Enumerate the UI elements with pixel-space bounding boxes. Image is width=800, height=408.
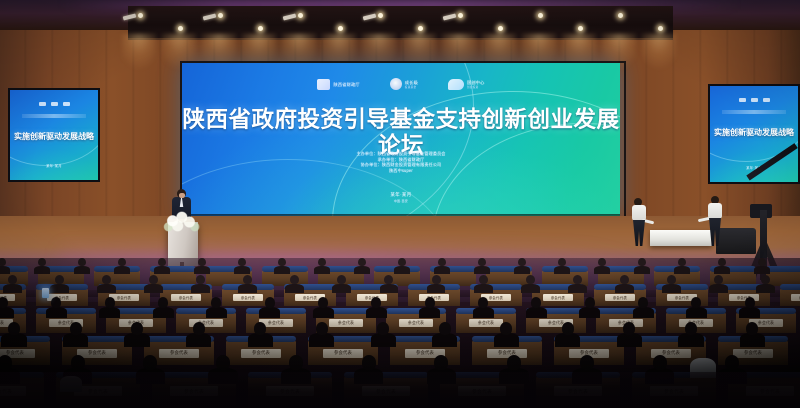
- conference-photo: 实施创新驱动发展战略 某年·某月 实施创新驱动发展战略 某年·某月 陕西省财政厅: [0, 0, 800, 408]
- photo-vignette: [0, 0, 800, 408]
